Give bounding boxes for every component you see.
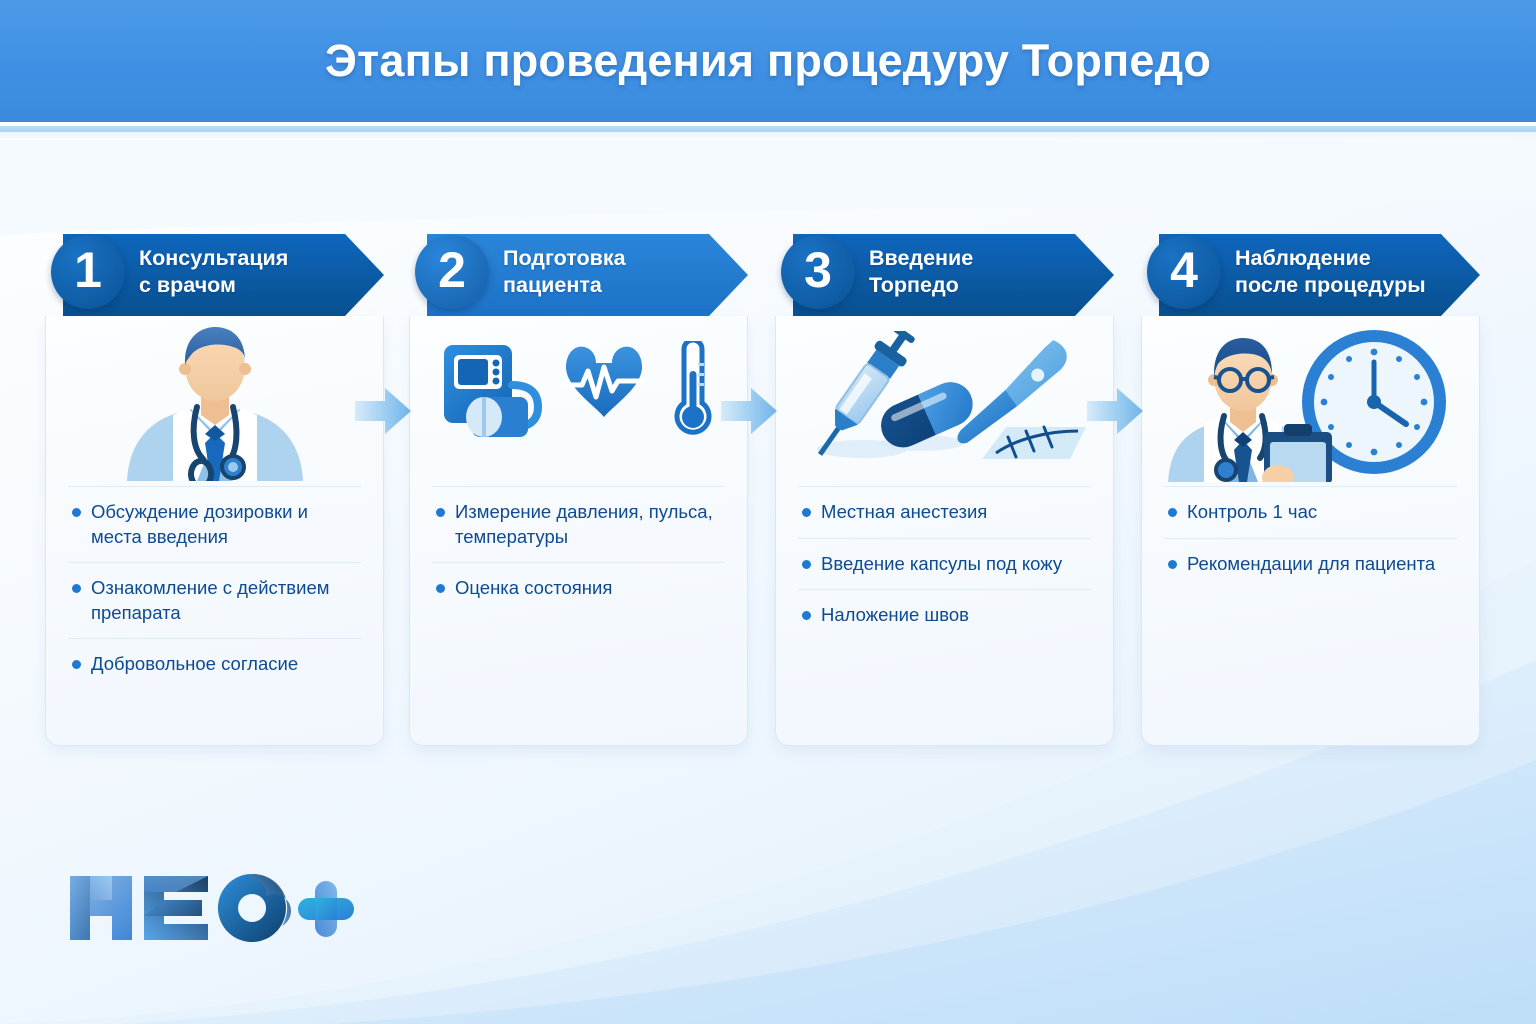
- infographic-stage: Этапы проведения процедуру Торпедо 1: [0, 0, 1536, 1024]
- step-3-number-circle: 3: [781, 235, 855, 309]
- bullet-item: Введение капсулы под кожу: [798, 538, 1091, 590]
- step-1-body: Обсуждение дозировки и места введения Оз…: [45, 316, 384, 746]
- bullet-dot-icon: [802, 508, 811, 517]
- step-2-bullets: Измерение давления, пульса, температуры …: [410, 486, 747, 614]
- bullet-item: Контроль 1 час: [1164, 486, 1457, 538]
- bullet-text: Рекомендации для пациента: [1187, 552, 1435, 577]
- arrow-step3-to-step4: [1087, 388, 1143, 434]
- step-2-body: Измерение давления, пульса, температуры …: [409, 316, 748, 746]
- steps-row: 1 Консультация с врачом: [0, 228, 1536, 748]
- step-1-icon-zone: [46, 316, 383, 486]
- step-4-icon-zone: [1142, 316, 1479, 486]
- bullet-item: Измерение давления, пульса, температуры: [432, 486, 725, 562]
- bullet-dot-icon: [802, 560, 811, 569]
- bullet-text: Введение капсулы под кожу: [821, 552, 1062, 577]
- step-3-icon-zone: [776, 316, 1113, 486]
- bullet-dot-icon: [72, 660, 81, 669]
- step-1-title-line2: с врачом: [139, 272, 288, 299]
- step-1-title-line1: Консультация: [139, 245, 288, 272]
- step-4-banner: 4 Наблюдение после процедуры: [1141, 228, 1480, 316]
- page-title: Этапы проведения процедуру Торпедо: [325, 35, 1211, 87]
- step-4-number-circle: 4: [1147, 235, 1221, 309]
- bullet-dot-icon: [802, 611, 811, 620]
- step-2-title-line2: пациента: [503, 272, 626, 299]
- bullet-text: Ознакомление с действием препарата: [91, 576, 359, 625]
- step-3-body: Местная анестезия Введение капсулы под к…: [775, 316, 1114, 746]
- step-3-title: Введение Торпедо: [869, 245, 973, 298]
- arrow-step1-to-step2: [355, 388, 411, 434]
- step-card-3[interactable]: 3 Введение Торпедо: [775, 228, 1114, 746]
- bullet-text: Контроль 1 час: [1187, 500, 1317, 525]
- step-4-bullets: Контроль 1 час Рекомендации для пациента: [1142, 486, 1479, 589]
- header-divider-shadow: [0, 132, 1536, 138]
- step-4-title-line1: Наблюдение: [1235, 245, 1426, 272]
- brand-logo[interactable]: [66, 868, 356, 953]
- step-4-title: Наблюдение после процедуры: [1235, 245, 1426, 298]
- bullet-item: Ознакомление с действием препарата: [68, 562, 361, 638]
- bullet-item: Обсуждение дозировки и места введения: [68, 486, 361, 562]
- step-4-title-line2: после процедуры: [1235, 272, 1426, 299]
- bullet-dot-icon: [436, 508, 445, 517]
- step-2-title: Подготовка пациента: [503, 245, 626, 298]
- step-2-number-circle: 2: [415, 235, 489, 309]
- doctor-clipboard-clock-icon: [1166, 320, 1456, 482]
- bullet-dot-icon: [72, 508, 81, 517]
- bullet-text: Местная анестезия: [821, 500, 987, 525]
- bullet-dot-icon: [1168, 560, 1177, 569]
- step-1-number-circle: 1: [51, 235, 125, 309]
- step-4-body: Контроль 1 час Рекомендации для пациента: [1141, 316, 1480, 746]
- bullet-dot-icon: [436, 584, 445, 593]
- neo-plus-logo-icon: [66, 868, 356, 948]
- step-1-bullets: Обсуждение дозировки и места введения Оз…: [46, 486, 383, 690]
- bullet-item: Местная анестезия: [798, 486, 1091, 538]
- bullet-item: Оценка состояния: [432, 562, 725, 614]
- step-2-banner: 2 Подготовка пациента: [409, 228, 748, 316]
- bullet-item: Наложение швов: [798, 589, 1091, 641]
- step-card-1[interactable]: 1 Консультация с врачом: [45, 228, 384, 746]
- bullet-text: Измерение давления, пульса, температуры: [455, 500, 723, 549]
- bullet-dot-icon: [72, 584, 81, 593]
- step-card-4[interactable]: 4 Наблюдение после процедуры: [1141, 228, 1480, 746]
- step-3-title-line2: Торпедо: [869, 272, 973, 299]
- step-3-number: 3: [804, 245, 832, 295]
- bullet-text: Оценка состояния: [455, 576, 612, 601]
- header-divider: [0, 122, 1536, 132]
- bullet-item: Рекомендации для пациента: [1164, 538, 1457, 590]
- bullet-text: Добровольное согласие: [91, 652, 298, 677]
- step-3-banner: 3 Введение Торпедо: [775, 228, 1114, 316]
- step-3-title-line1: Введение: [869, 245, 973, 272]
- step-1-banner: 1 Консультация с врачом: [45, 228, 384, 316]
- step-2-title-line1: Подготовка: [503, 245, 626, 272]
- bullet-item: Добровольное согласие: [68, 638, 361, 690]
- syringe-capsule-scalpel-icon: [800, 331, 1090, 471]
- step-4-number: 4: [1170, 245, 1198, 295]
- bullet-dot-icon: [1168, 508, 1177, 517]
- step-2-icon-zone: [410, 316, 747, 486]
- page-header: Этапы проведения процедуру Торпедо: [0, 0, 1536, 122]
- step-3-bullets: Местная анестезия Введение капсулы под к…: [776, 486, 1113, 641]
- bullet-text: Обсуждение дозировки и места введения: [91, 500, 359, 549]
- step-1-title: Консультация с врачом: [139, 245, 288, 298]
- bullet-text: Наложение швов: [821, 603, 969, 628]
- doctor-stethoscope-icon: [105, 321, 325, 481]
- step-2-number: 2: [438, 245, 466, 295]
- arrow-step2-to-step3: [721, 388, 777, 434]
- step-1-number: 1: [74, 245, 102, 295]
- step-card-2[interactable]: 2 Подготовка пациента: [409, 228, 748, 746]
- vitals-monitor-icon: [436, 341, 721, 461]
